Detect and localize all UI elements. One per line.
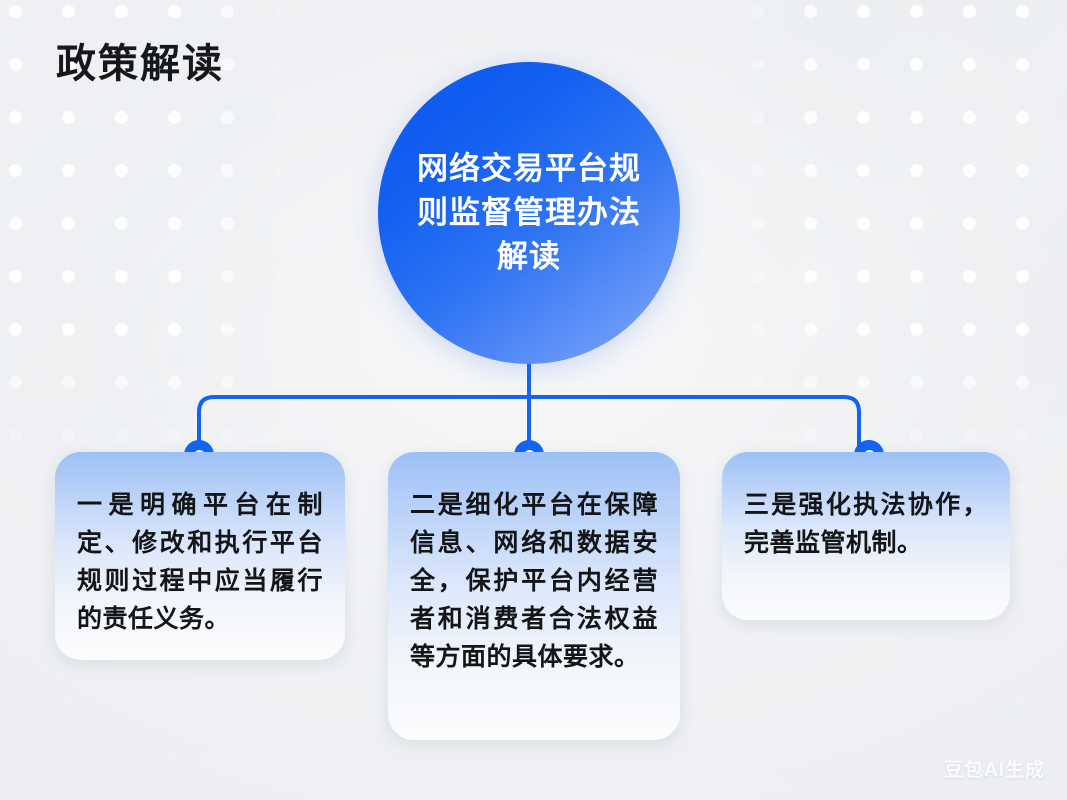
page-title: 政策解读 xyxy=(56,42,224,86)
point-card-2: 二是细化平台在保障信息、网络和数据安全，保护平台内经营者和消费者合法权益等方面的… xyxy=(388,452,680,740)
point-card-1: 一是明确平台在制定、修改和执行平台规则过程中应当履行的责任义务。 xyxy=(55,452,345,660)
point-card-3: 三是强化执法协作，完善监管机制。 xyxy=(722,452,1010,620)
infographic-canvas: 政策解读 网络交易平台规则监督管理办法解读 一是明确平台在制定、修改和执行平台规… xyxy=(0,0,1067,800)
point-card-1-text: 一是明确平台在制定、修改和执行平台规则过程中应当履行的责任义务。 xyxy=(77,486,323,638)
point-card-2-text: 二是细化平台在保障信息、网络和数据安全，保护平台内经营者和消费者合法权益等方面的… xyxy=(410,486,658,676)
hub-circle: 网络交易平台规则监督管理办法解读 xyxy=(378,62,680,364)
point-card-3-text: 三是强化执法协作，完善监管机制。 xyxy=(744,486,988,562)
hub-title: 网络交易平台规则监督管理办法解读 xyxy=(416,147,642,279)
ai-watermark: 豆包AI生成 xyxy=(944,755,1045,782)
